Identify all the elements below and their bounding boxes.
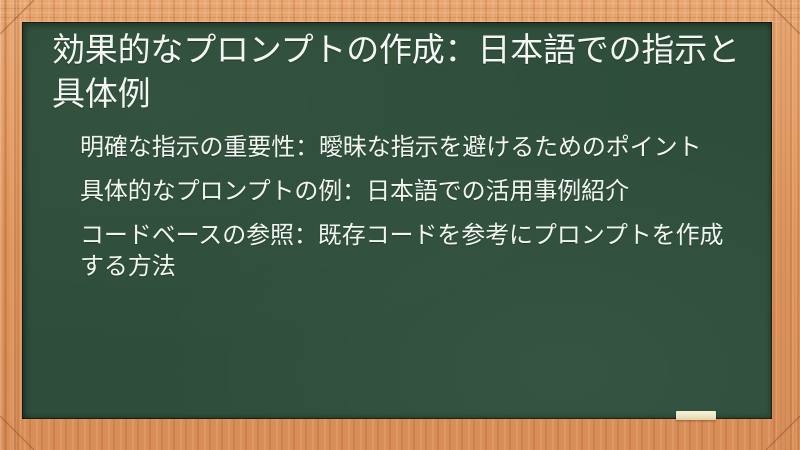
bullet-item-1: 明確な指示の重要性：曖昧な指示を避けるためのポイント	[80, 132, 742, 164]
bullet-item-2: 具体的なプロンプトの例：日本語での活用事例紹介	[80, 176, 742, 208]
frame-grain-left	[0, 0, 24, 450]
frame-miter-bottom-right	[766, 416, 800, 450]
slide-title: 効果的なプロンプトの作成：日本語での指示と具体例	[52, 28, 742, 116]
bullet-item-3: コードベースの参照：既存コードを参考にプロンプトを作成する方法	[80, 220, 742, 284]
frame-miter-bottom-left	[0, 416, 34, 450]
slide-content: 効果的なプロンプトの作成：日本語での指示と具体例 明確な指示の重要性：曖昧な指示…	[22, 22, 772, 283]
bullet-list: 明確な指示の重要性：曖昧な指示を避けるためのポイント 具体的なプロンプトの例：日…	[52, 132, 742, 284]
frame-grain-top	[0, 0, 800, 22]
frame-grain-right	[776, 0, 800, 450]
chalk-stick-icon	[676, 411, 716, 420]
chalkboard-slide: 効果的なプロンプトの作成：日本語での指示と具体例 明確な指示の重要性：曖昧な指示…	[0, 0, 800, 450]
chalkboard-surface: 効果的なプロンプトの作成：日本語での指示と具体例 明確な指示の重要性：曖昧な指示…	[22, 22, 772, 419]
